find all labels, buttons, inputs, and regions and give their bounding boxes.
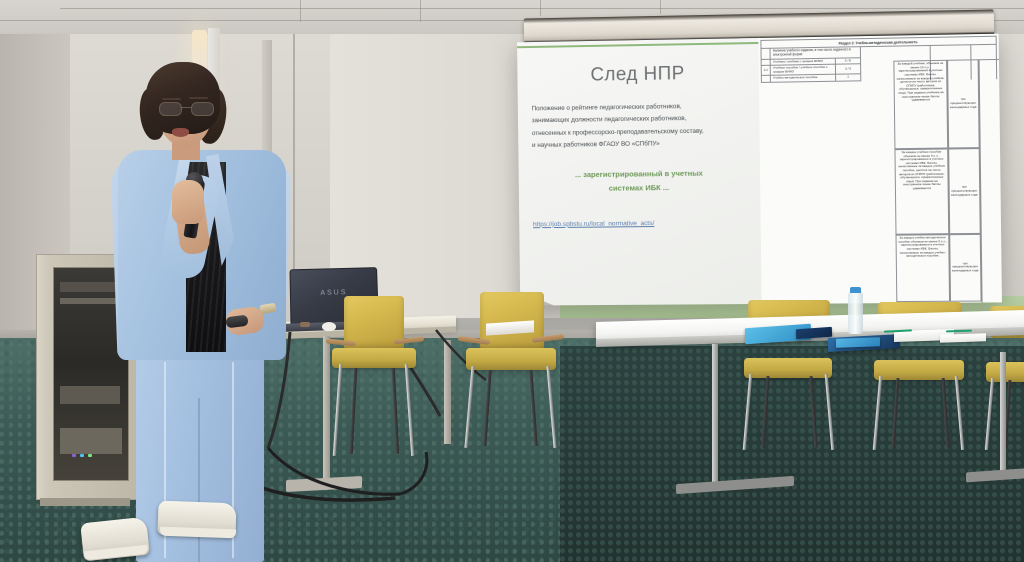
blue-folder[interactable] xyxy=(836,337,880,348)
hair xyxy=(146,62,220,134)
trouser-split xyxy=(198,398,200,562)
bottle-cap xyxy=(850,287,861,293)
table-leg xyxy=(1000,352,1006,470)
conference-chair[interactable] xyxy=(322,296,426,464)
right-hand xyxy=(172,180,204,224)
paper-stack[interactable] xyxy=(940,333,986,343)
presenter xyxy=(60,62,260,562)
conference-room-photo: След НПР Положение о рейтинге педагогиче… xyxy=(0,0,1024,562)
mouth xyxy=(172,128,189,137)
table-leg xyxy=(712,344,718,482)
eyeglasses xyxy=(159,102,212,114)
water-bottle xyxy=(848,292,863,334)
conference-chair[interactable] xyxy=(456,292,566,450)
